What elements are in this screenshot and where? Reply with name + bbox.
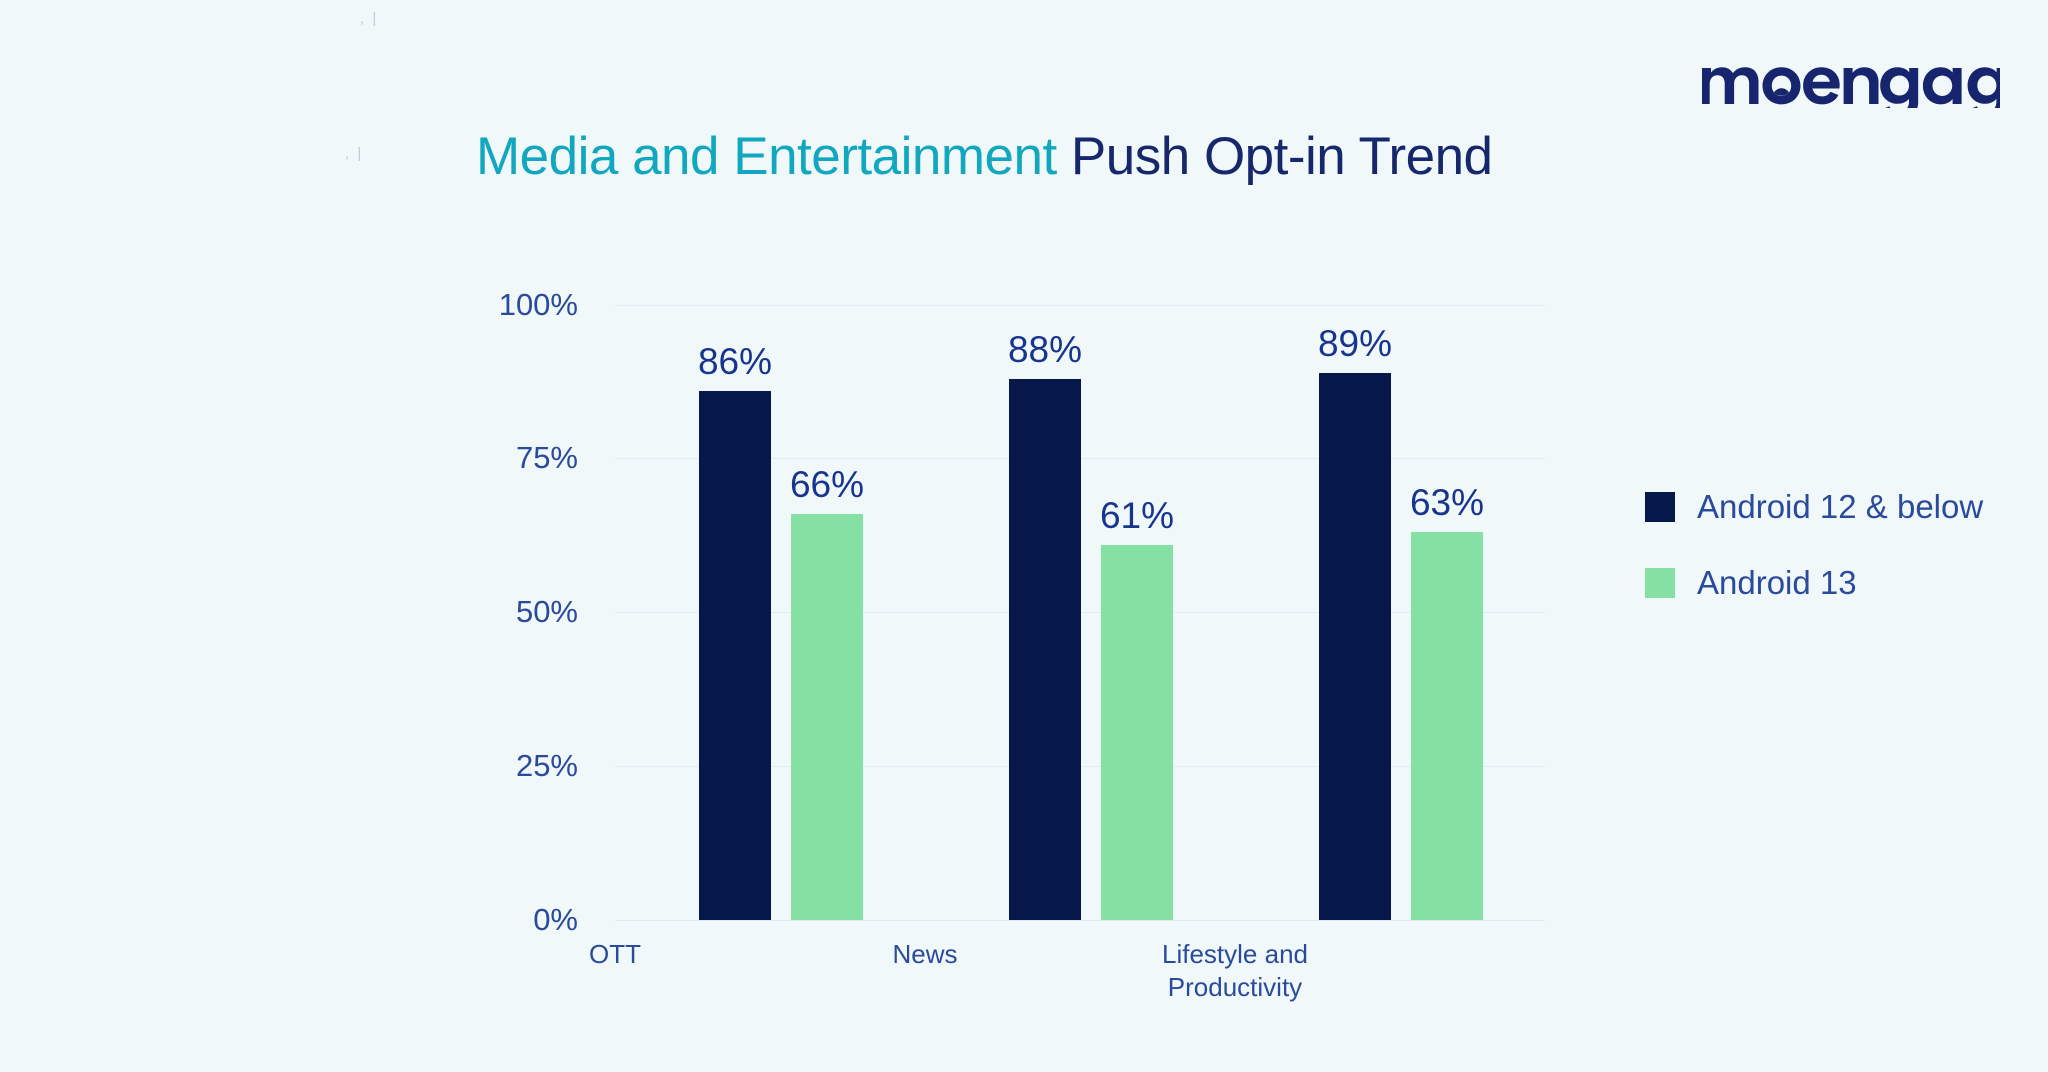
chart-legend: Android 12 & below Android 13 <box>1645 488 1983 640</box>
bar-news-android13[interactable]: 61% <box>1101 545 1173 920</box>
bar-chart: 100% 75% 50% 25% 0% 86% 66% 88% 61% 89% <box>0 0 2048 1072</box>
bar-value-label: 89% <box>1318 323 1392 365</box>
y-axis-label-75: 75% <box>458 440 578 476</box>
legend-swatch-icon <box>1645 568 1675 598</box>
x-axis-label-line: Productivity <box>1075 971 1395 1004</box>
bar-value-label: 66% <box>790 464 864 506</box>
legend-swatch-icon <box>1645 492 1675 522</box>
y-axis-label-100: 100% <box>458 287 578 323</box>
y-axis-label-0: 0% <box>458 902 578 938</box>
bar-news-android12[interactable]: 88% <box>1009 379 1081 920</box>
bar-group-news: 88% 61% <box>925 305 1235 920</box>
x-axis-label-line: OTT <box>455 938 775 971</box>
plot-bars: 86% 66% 88% 61% 89% 63% <box>615 305 1545 920</box>
legend-item-android13[interactable]: Android 13 <box>1645 564 1983 602</box>
y-axis-label-50: 50% <box>458 594 578 630</box>
bar-lifestyle-android12[interactable]: 89% <box>1319 373 1391 920</box>
x-axis-label-news: News <box>765 938 1085 971</box>
x-axis-label-ott: OTT <box>455 938 775 971</box>
gridline-0 <box>615 920 1545 921</box>
bar-group-ott: 86% 66% <box>615 305 925 920</box>
bar-lifestyle-android13[interactable]: 63% <box>1411 532 1483 920</box>
bar-value-label: 88% <box>1008 329 1082 371</box>
bar-value-label: 86% <box>698 341 772 383</box>
bar-ott-android12[interactable]: 86% <box>699 391 771 920</box>
legend-item-android12[interactable]: Android 12 & below <box>1645 488 1983 526</box>
legend-label: Android 13 <box>1697 564 1857 602</box>
bar-group-lifestyle-productivity: 89% 63% <box>1235 305 1545 920</box>
bar-value-label: 63% <box>1410 482 1484 524</box>
x-axis-label-line: News <box>765 938 1085 971</box>
bar-value-label: 61% <box>1100 495 1174 537</box>
bar-ott-android13[interactable]: 66% <box>791 514 863 920</box>
y-axis-label-25: 25% <box>458 748 578 784</box>
x-axis-label-line: Lifestyle and <box>1075 938 1395 971</box>
x-axis-label-lifestyle-productivity: Lifestyle and Productivity <box>1075 938 1395 1003</box>
legend-label: Android 12 & below <box>1697 488 1983 526</box>
